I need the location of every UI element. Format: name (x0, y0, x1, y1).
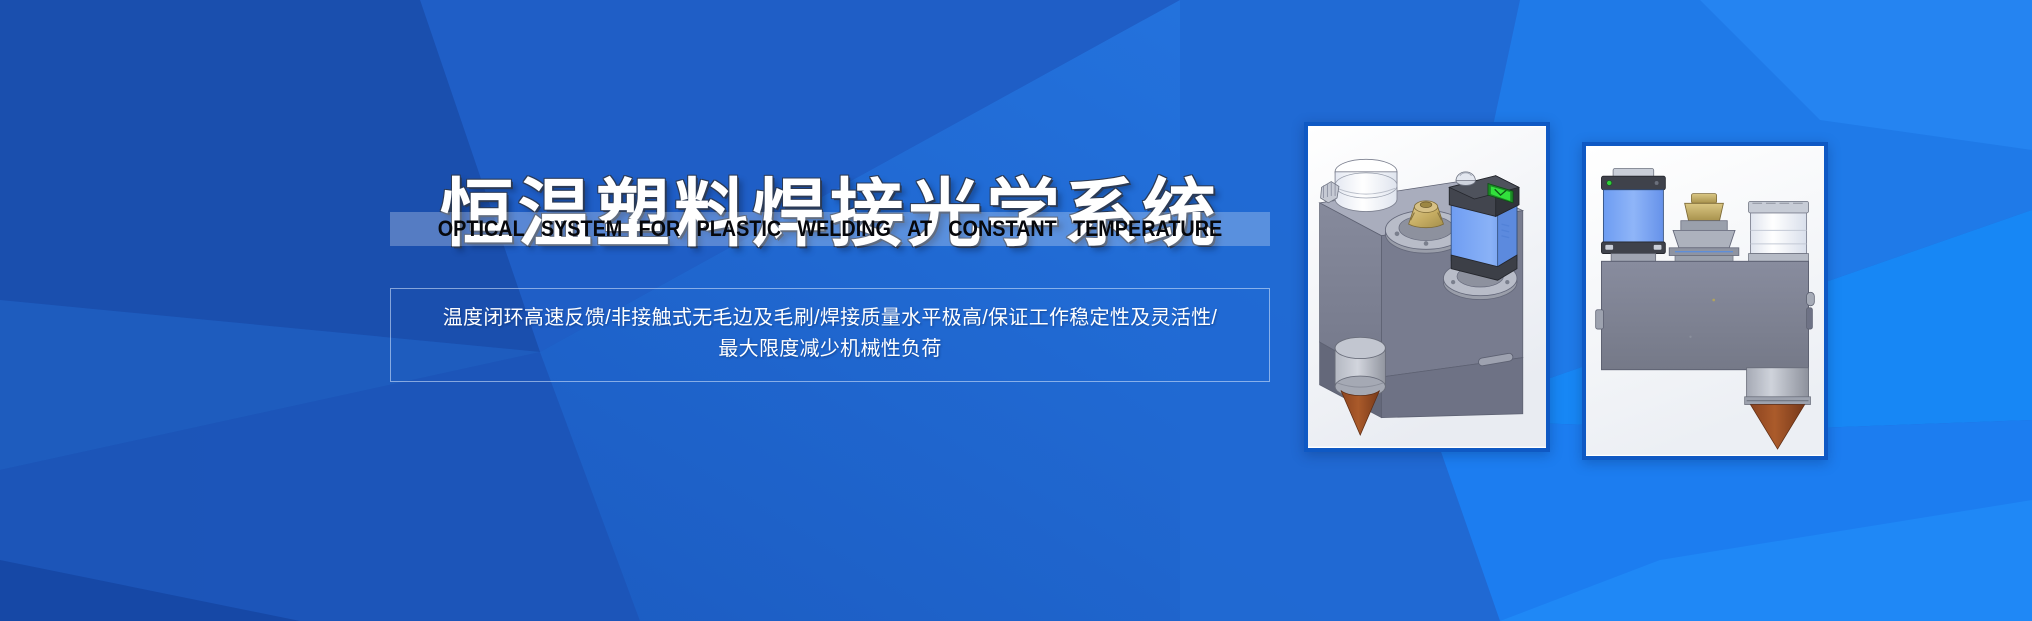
subtitle-box: 温度闭环高速反馈/非接触式无毛边及毛刷/焊接质量水平极高/保证工作稳定性及灵活性… (390, 288, 1270, 382)
title-stack: 恒温塑料焊接光学系统 OPTICAL SYSTEM FOR PLASTIC WE… (390, 160, 1270, 280)
headline-block: 恒温塑料焊接光学系统 OPTICAL SYSTEM FOR PLASTIC WE… (390, 160, 1270, 380)
title-en-word: TEMPERATURE (1073, 216, 1222, 242)
subtitle-line-2: 最大限度减少机械性负荷 (409, 334, 1251, 365)
product-card-right[interactable] (1582, 142, 1828, 460)
title-en-word: PLASTIC (697, 216, 782, 242)
product-image-isometric (1308, 126, 1546, 448)
promo-banner: 恒温塑料焊接光学系统 OPTICAL SYSTEM FOR PLASTIC WE… (0, 0, 2032, 621)
subtitle-line-1: 温度闭环高速反馈/非接触式无毛边及毛刷/焊接质量水平极高/保证工作稳定性及灵活性… (409, 303, 1251, 334)
title-en-word: CONSTANT (948, 216, 1057, 242)
title-en-word: AT (907, 216, 932, 242)
sensor-knob-icon (1456, 172, 1475, 186)
title-en-word: SYSTEM (541, 216, 622, 242)
page-title-english: OPTICAL SYSTEM FOR PLASTIC WELDING AT CO… (434, 210, 1226, 248)
gray-body-housing (1596, 261, 1815, 369)
title-en-word: WELDING (797, 216, 891, 242)
product-image-front (1586, 146, 1824, 456)
title-en-word: FOR (638, 216, 680, 242)
product-card-left[interactable] (1304, 122, 1550, 452)
white-cylinder-canister (1749, 201, 1809, 261)
status-led-icon (1607, 180, 1612, 185)
title-en-word: OPTICAL (438, 216, 525, 242)
blue-sensor-module (1443, 172, 1518, 300)
